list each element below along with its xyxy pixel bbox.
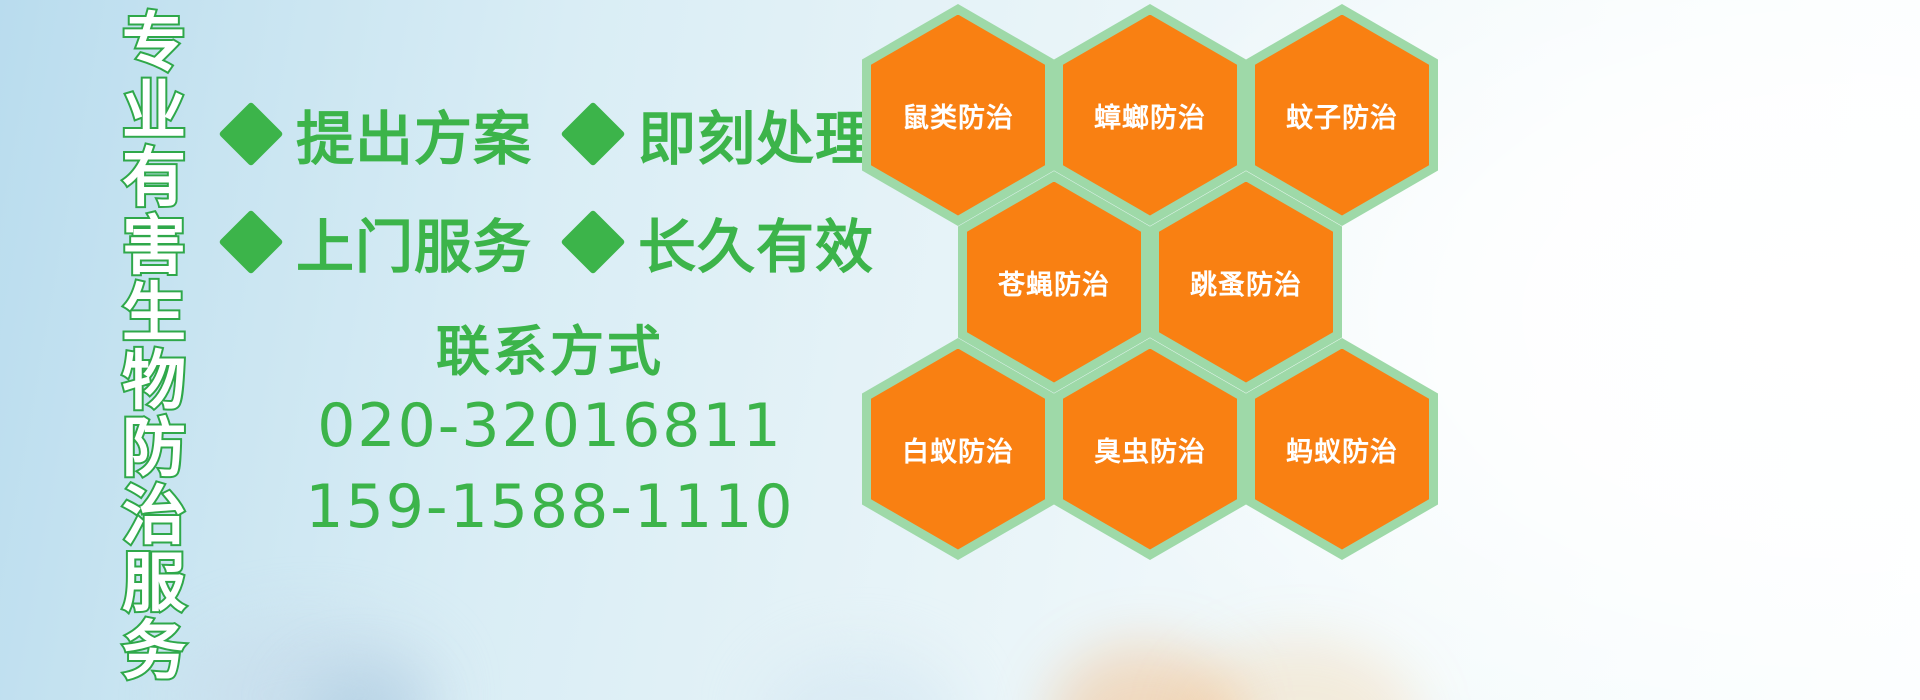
service-honeycomb: 鼠类防治 蟑螂防治 蚊子防治 苍蝇防治 跳蚤防治 白蚁防治: [862, 0, 1462, 558]
background-blur-blob: [760, 650, 960, 700]
hex-inner: 跳蚤防治: [1159, 182, 1333, 383]
vertical-headline-char: 专: [122, 12, 186, 76]
hex-label: 鼠类防治: [902, 96, 1014, 135]
vertical-headline-char: 业: [122, 80, 186, 144]
hex-label: 蟑螂防治: [1094, 96, 1206, 135]
hex-inner: 蚂蚁防治: [1255, 349, 1429, 550]
hex-label: 臭虫防治: [1094, 430, 1206, 469]
feature-item-immediate-handling: 即刻处理: [570, 92, 874, 176]
feature-item-long-lasting: 长久有效: [570, 200, 874, 284]
hex-inner: 白蚁防治: [871, 349, 1045, 550]
phone-number-mobile[interactable]: 159-1588-1110: [300, 467, 800, 548]
vertical-headline-char: 物: [122, 350, 186, 414]
background-blur-blob: [1050, 645, 1240, 700]
hex-inner: 臭虫防治: [1063, 349, 1237, 550]
hex-inner: 鼠类防治: [871, 15, 1045, 216]
feature-item-onsite-service: 上门服务: [228, 200, 532, 284]
diamond-icon: [218, 209, 283, 274]
vertical-headline-char: 治: [122, 485, 186, 549]
vertical-headline-char: 害: [122, 215, 186, 279]
diamond-icon: [218, 101, 283, 166]
hex-label: 蚊子防治: [1286, 96, 1398, 135]
hex-label: 苍蝇防治: [998, 263, 1110, 302]
hex-inner: 蟑螂防治: [1063, 15, 1237, 216]
hex-label: 跳蚤防治: [1190, 263, 1302, 302]
hex-inner: 蚊子防治: [1255, 15, 1429, 216]
promo-banner: 专 业 有 害 生 物 防 治 服 务 提出方案 即刻处理 上门服务: [0, 0, 1920, 700]
vertical-headline: 专 业 有 害 生 物 防 治 服 务: [108, 12, 200, 684]
feature-item-propose-plan: 提出方案: [228, 92, 532, 176]
feature-label: 提出方案: [296, 92, 532, 176]
contact-title: 联系方式: [300, 318, 800, 386]
vertical-headline-char: 服: [122, 552, 186, 616]
feature-list: 提出方案 即刻处理 上门服务 长久有效: [228, 80, 868, 296]
feature-row: 上门服务 长久有效: [228, 188, 868, 296]
hex-inner: 苍蝇防治: [967, 182, 1141, 383]
phone-number-landline[interactable]: 020-32016811: [300, 386, 800, 467]
vertical-headline-char: 务: [122, 620, 186, 684]
diamond-icon: [560, 101, 625, 166]
contact-block: 联系方式 020-32016811 159-1588-1110: [300, 318, 800, 548]
feature-label: 长久有效: [638, 200, 874, 284]
background-blur-blob: [1180, 640, 1420, 700]
vertical-headline-char: 生: [122, 282, 186, 346]
vertical-headline-char: 防: [122, 417, 186, 481]
hex-label: 白蚁防治: [902, 430, 1014, 469]
feature-label: 上门服务: [296, 200, 532, 284]
background-blur-blob: [180, 620, 440, 700]
vertical-headline-char: 有: [122, 147, 186, 211]
feature-label: 即刻处理: [638, 92, 874, 176]
diamond-icon: [560, 209, 625, 274]
hex-label: 蚂蚁防治: [1286, 430, 1398, 469]
feature-row: 提出方案 即刻处理: [228, 80, 868, 188]
background-blur-blob: [300, 670, 420, 700]
